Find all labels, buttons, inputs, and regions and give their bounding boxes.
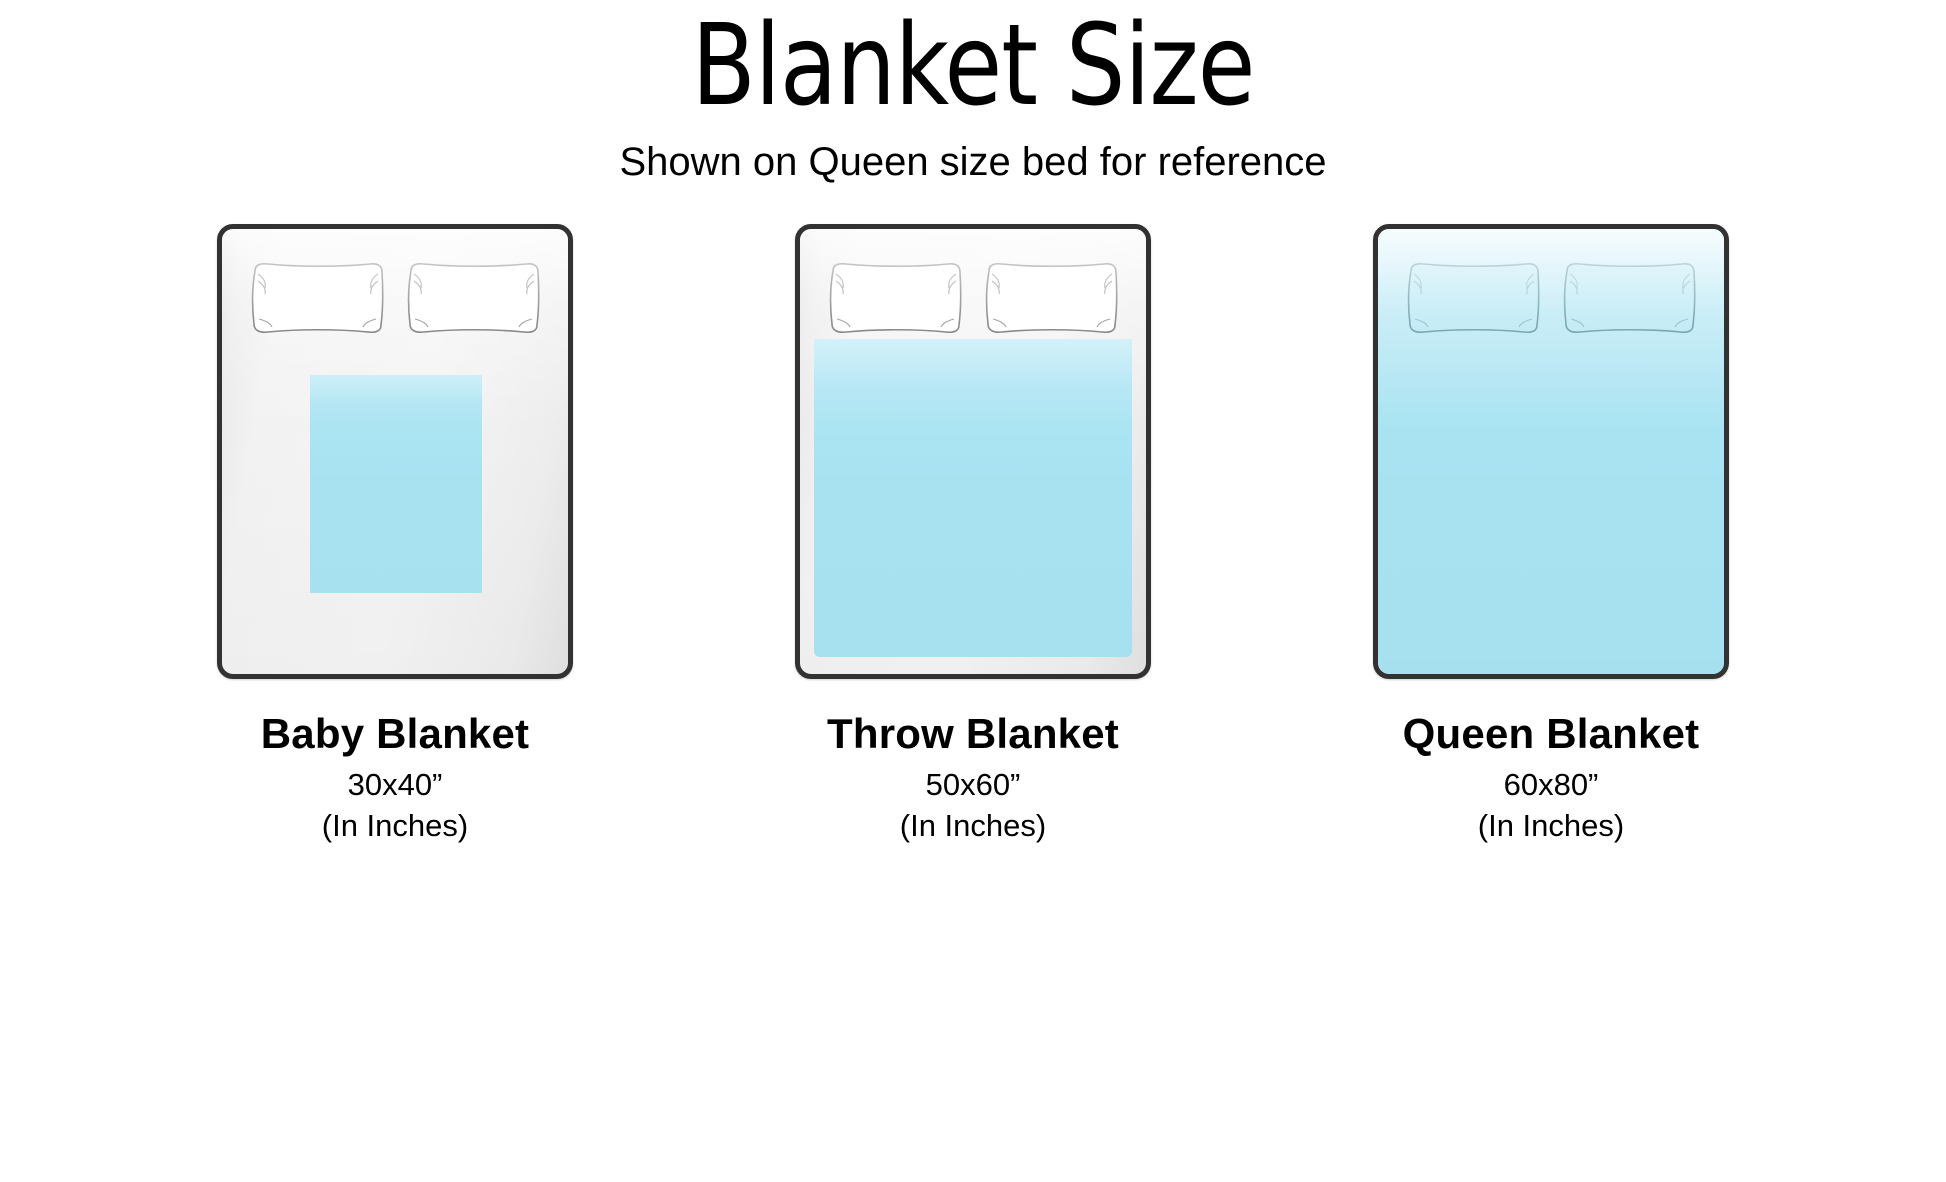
blanket-units: (In Inches): [827, 810, 1119, 841]
page-subtitle: Shown on Queen size bed for reference: [0, 140, 1946, 184]
blanket-units: (In Inches): [261, 810, 530, 841]
blanket-sheen: [310, 375, 482, 593]
blanket-name: Baby Blanket: [261, 713, 530, 755]
pillow-icon-right: [1560, 259, 1700, 337]
blanket-card-queen: Queen Blanket 60x80” (In Inches): [1336, 224, 1766, 841]
blanket-size-comparison-row: Baby Blanket 30x40” (In Inches): [0, 224, 1946, 844]
blanket-size: 50x60”: [827, 769, 1119, 800]
page-title: Blanket Size: [68, 8, 1878, 126]
pillow-icon-right: [404, 259, 544, 337]
pillow-icon-left: [248, 259, 388, 337]
blanket-caption-queen: Queen Blanket 60x80” (In Inches): [1403, 713, 1700, 841]
pillow-icon-left: [826, 259, 966, 337]
blanket-size: 30x40”: [261, 769, 530, 800]
pillow-icon-right: [982, 259, 1122, 337]
blanket-size: 60x80”: [1403, 769, 1700, 800]
bed-illustration-baby: [217, 224, 573, 679]
blanket-caption-baby: Baby Blanket 30x40” (In Inches): [261, 713, 530, 841]
blanket-card-baby: Baby Blanket 30x40” (In Inches): [180, 224, 610, 841]
blanket-card-throw: Throw Blanket 50x60” (In Inches): [758, 224, 1188, 841]
blanket-name: Throw Blanket: [827, 713, 1119, 755]
bed-illustration-throw: [795, 224, 1151, 679]
blanket-sheen: [814, 339, 1132, 657]
blanket-swatch-baby: [310, 375, 482, 593]
pillow-icon-left: [1404, 259, 1544, 337]
blanket-units: (In Inches): [1403, 810, 1700, 841]
page-header: Blanket Size Shown on Queen size bed for…: [0, 0, 1946, 184]
bed-illustration-queen: [1373, 224, 1729, 679]
blanket-name: Queen Blanket: [1403, 713, 1700, 755]
blanket-swatch-throw: [814, 339, 1132, 657]
blanket-caption-throw: Throw Blanket 50x60” (In Inches): [827, 713, 1119, 841]
